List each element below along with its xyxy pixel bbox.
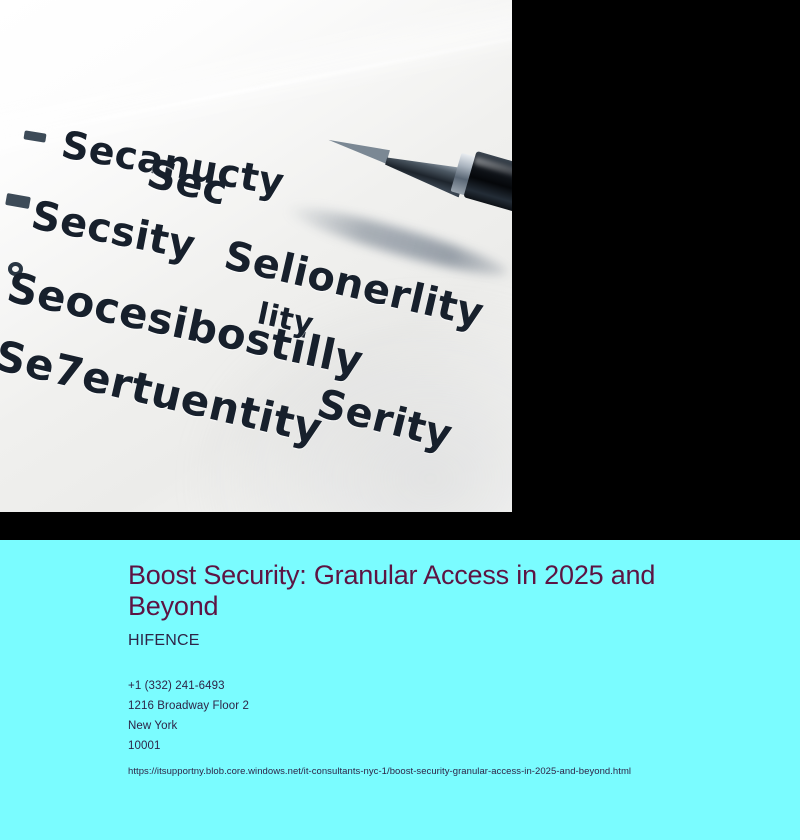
checkbox-bullet-icon [23, 130, 46, 142]
source-url-link[interactable]: https://itsupportny.blob.core.windows.ne… [128, 766, 760, 777]
brand-label: HIFENCE [128, 632, 760, 650]
checklist-line: Serity [312, 381, 457, 459]
page-root: Secanucty Sec Secsity Selionerlity Seoce… [0, 0, 800, 840]
page-title: Boost Security: Granular Access in 2025 … [128, 560, 728, 623]
contact-zip: 10001 [128, 736, 760, 756]
contact-street: 1216 Broadway Floor 2 [128, 696, 760, 716]
checklist-line: Secsity [28, 192, 200, 269]
checkbox-bullet-icon [5, 193, 31, 209]
content-inner: Boost Security: Granular Access in 2025 … [128, 560, 760, 777]
contact-city: New York [128, 716, 760, 736]
hero-photo: Secanucty Sec Secsity Selionerlity Seoce… [0, 0, 512, 512]
hero-letterbox-right [512, 0, 800, 540]
contact-block: +1 (332) 241-6493 1216 Broadway Floor 2 … [128, 676, 760, 756]
content-panel: Boost Security: Granular Access in 2025 … [0, 540, 800, 840]
hero-band: Secanucty Sec Secsity Selionerlity Seoce… [0, 0, 800, 540]
hero-letterbox-bottom [0, 512, 800, 540]
contact-phone: +1 (332) 241-6493 [128, 676, 760, 696]
